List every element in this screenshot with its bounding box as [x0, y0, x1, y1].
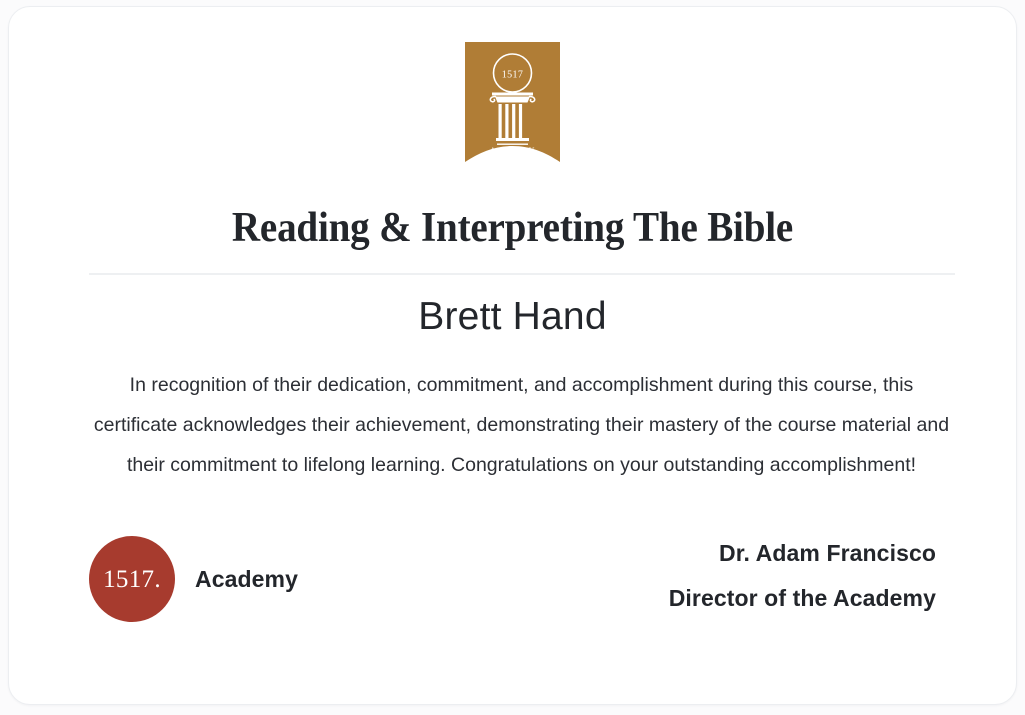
signatory-name: Dr. Adam Francisco — [669, 531, 936, 576]
certificate-footer: 1517. Academy Dr. Adam Francisco Directo… — [89, 521, 936, 641]
logo-container: 1517 ACADEMY — [9, 42, 1016, 162]
academy-banner-logo: 1517 ACADEMY — [465, 42, 560, 162]
svg-text:1517: 1517 — [502, 70, 524, 81]
signatory-role: Director of the Academy — [669, 576, 936, 621]
academy-wordmark: Academy — [195, 564, 298, 594]
certificate-card: 1517 ACADEMY Reading & Interpreting — [8, 6, 1017, 705]
svg-text:ACADEMY: ACADEMY — [490, 146, 535, 155]
academy-seal-icon: 1517. — [89, 536, 175, 622]
seal-year-label: 1517. — [103, 567, 161, 592]
recipient-name: Brett Hand — [9, 293, 1016, 341]
course-title: Reading & Interpreting The Bible — [44, 200, 981, 256]
signature-block: Dr. Adam Francisco Director of the Acade… — [669, 521, 936, 621]
recognition-paragraph: In recognition of their dedication, comm… — [87, 365, 956, 485]
academy-seal-group: 1517. Academy — [89, 536, 298, 622]
section-divider — [89, 273, 955, 275]
